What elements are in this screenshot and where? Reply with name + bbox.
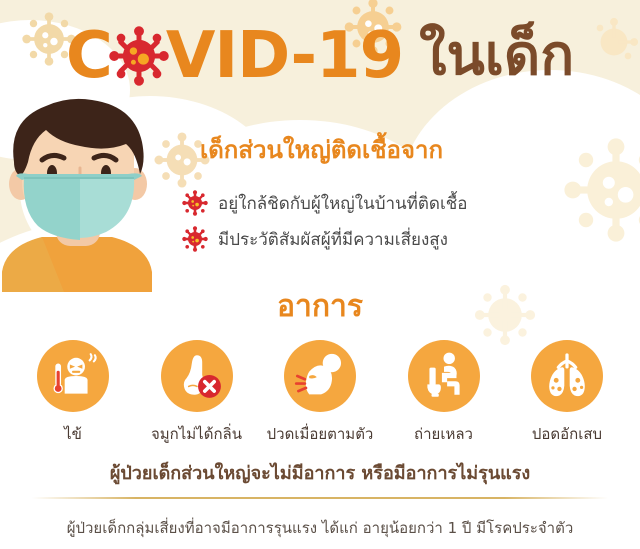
symptoms-heading: อาการ bbox=[0, 283, 640, 330]
title-thai-suffix: ในเด็ก bbox=[419, 28, 574, 84]
infographic-poster: C VI bbox=[0, 0, 640, 549]
list-item: มีประวัติสัมผัสผู้ที่มีความเสี่ยงสูง bbox=[182, 221, 602, 257]
list-item-label: มีประวัติสัมผัสผู้ที่มีความเสี่ยงสูง bbox=[218, 226, 448, 253]
symptom-icon-circle bbox=[161, 340, 233, 412]
title-word: VID-19 bbox=[166, 24, 403, 88]
poster-title: C VI bbox=[0, 14, 640, 98]
symptom-icon-circle bbox=[284, 340, 356, 412]
fever-thermometer-icon bbox=[47, 350, 99, 402]
nose-no-smell-icon bbox=[171, 350, 223, 402]
transmission-list: อยู่ใกล้ชิดกับผู้ใหญ่ในบ้านที่ติดเชื้อ ม… bbox=[182, 185, 602, 257]
body-ache-cough-icon bbox=[293, 349, 347, 403]
symptom-item: ปวดเมื่อยตามตัว bbox=[261, 340, 379, 446]
list-item-label: อยู่ใกล้ชิดกับผู้ใหญ่ในบ้านที่ติดเชื้อ bbox=[218, 190, 468, 217]
symptom-label: ไข้ bbox=[64, 422, 82, 446]
symptom-item: จมูกไม่ได้กลิ่น bbox=[138, 340, 256, 446]
lungs-pneumonia-icon bbox=[540, 349, 594, 403]
symptom-label: ปวดเมื่อยตามตัว bbox=[267, 422, 374, 446]
list-item: อยู่ใกล้ชิดกับผู้ใหญ่ในบ้านที่ติดเชื้อ bbox=[182, 185, 602, 221]
symptom-icon-circle bbox=[37, 340, 109, 412]
symptom-label: ถ่ายเหลว bbox=[414, 422, 473, 446]
title-letter-c: C bbox=[66, 24, 112, 88]
symptom-item: ถ่ายเหลว bbox=[385, 340, 503, 446]
symptom-icon-circle bbox=[408, 340, 480, 412]
masked-boy-illustration bbox=[0, 96, 166, 292]
symptom-item: ปอดอักเสบ bbox=[508, 340, 626, 446]
diarrhea-toilet-icon bbox=[418, 350, 470, 402]
coronavirus-bullet-icon bbox=[182, 190, 208, 216]
symptom-item: ไข้ bbox=[14, 340, 132, 446]
coronavirus-icon bbox=[108, 25, 170, 87]
summary-text: ผู้ป่วยเด็กส่วนใหญ่จะไม่มีอาการ หรือมีอา… bbox=[0, 458, 640, 487]
symptom-label: จมูกไม่ได้กลิ่น bbox=[151, 422, 242, 446]
symptoms-list: ไข้ จมูกไม่ได้กลิ่น bbox=[14, 340, 626, 446]
coronavirus-bullet-icon bbox=[182, 226, 208, 252]
symptom-label: ปอดอักเสบ bbox=[532, 422, 602, 446]
section-divider bbox=[32, 497, 608, 499]
risk-note-text: ผู้ป่วยเด็กกลุ่มเสี่ยงที่อาจมีอาการรุนแร… bbox=[0, 516, 640, 540]
transmission-heading: เด็กส่วนใหญ่ติดเชื้อจาก bbox=[200, 130, 443, 169]
symptom-icon-circle bbox=[531, 340, 603, 412]
